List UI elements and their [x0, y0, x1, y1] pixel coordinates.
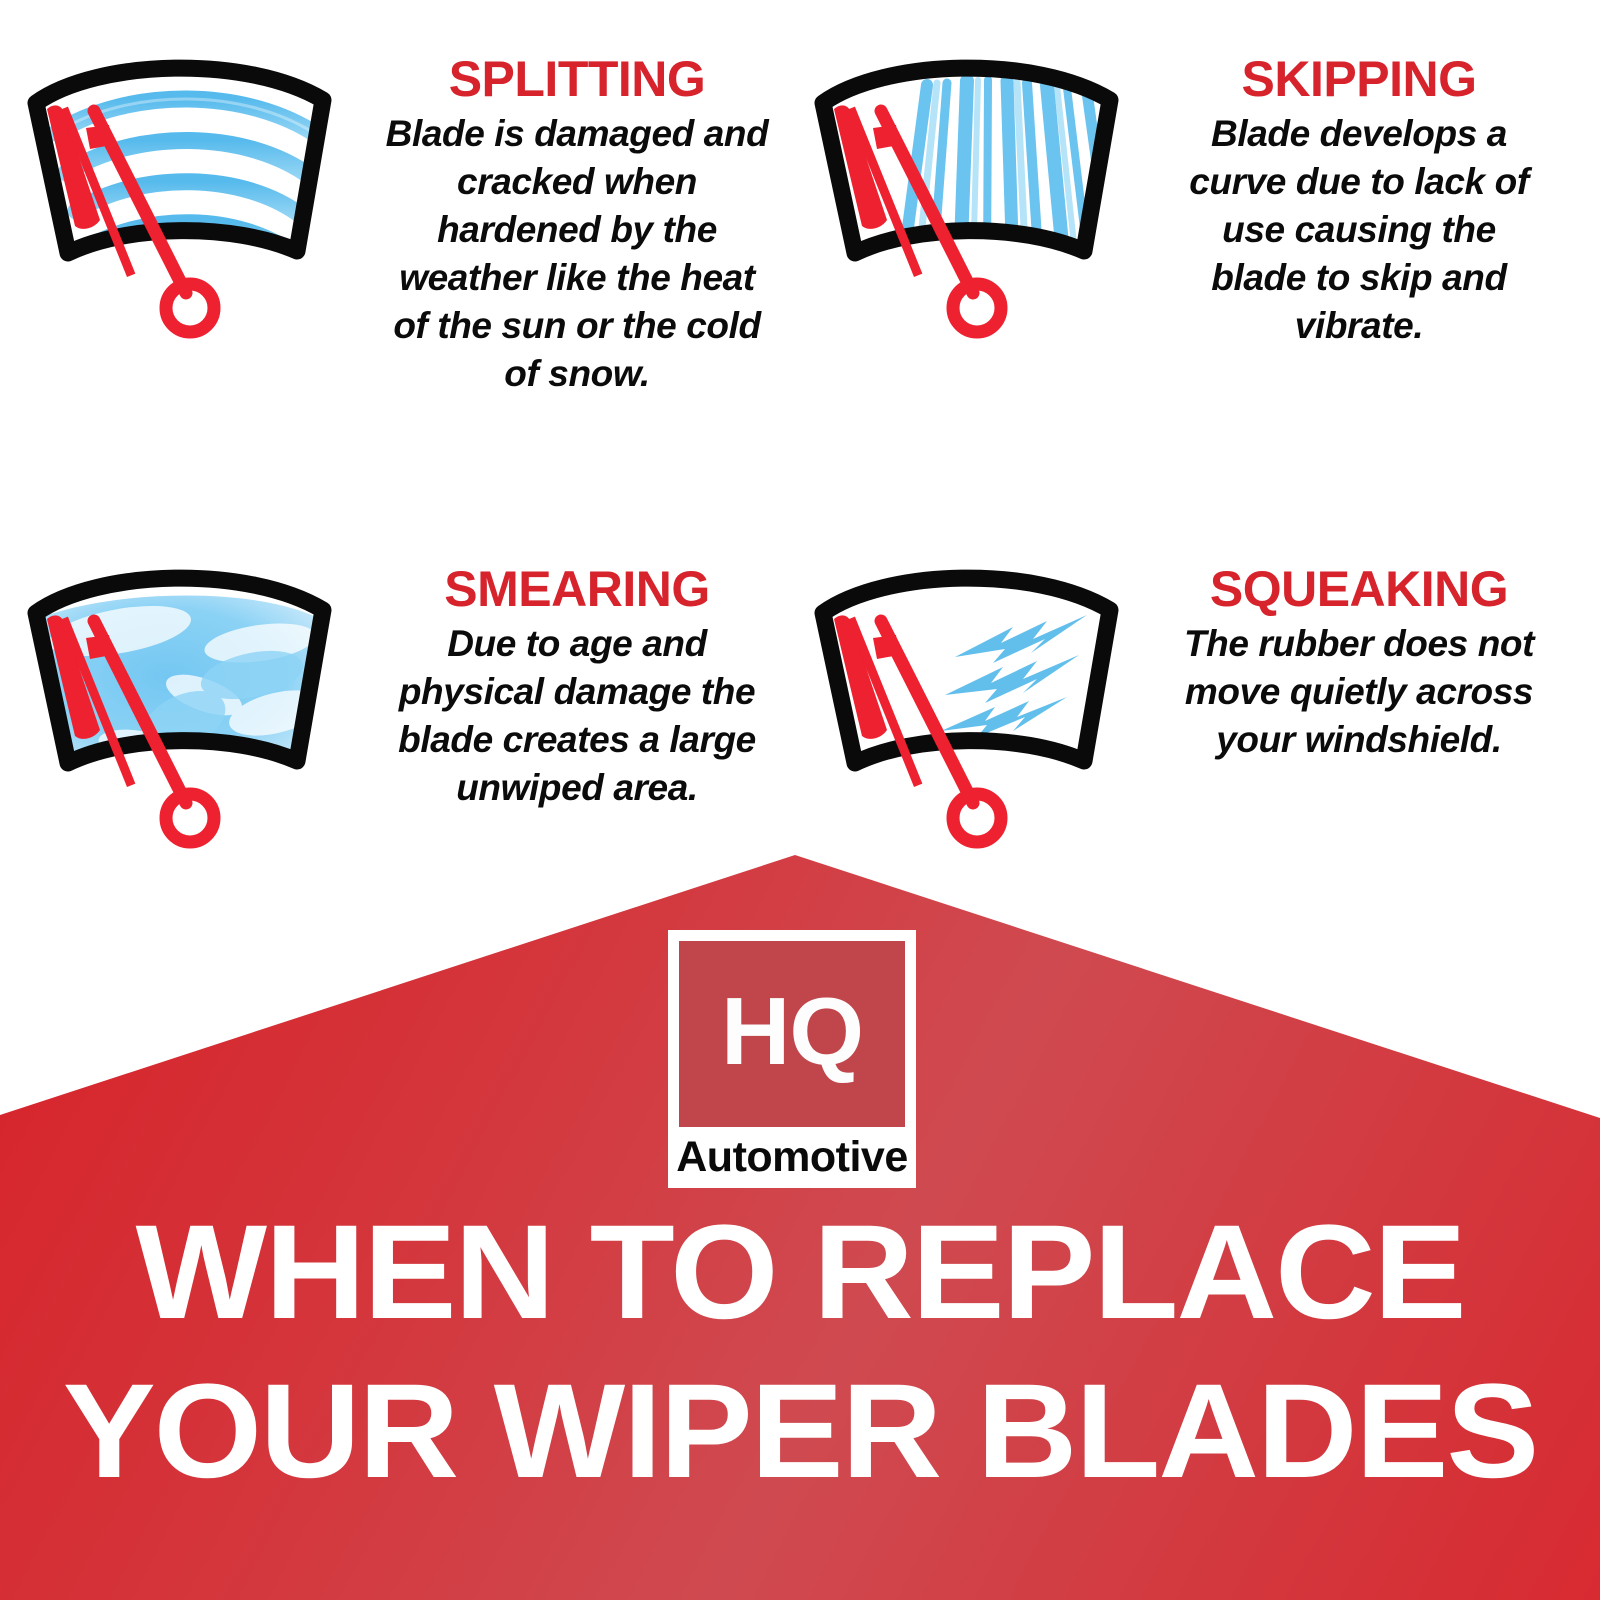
logo-mark: HQ	[679, 941, 905, 1127]
card-title: SQUEAKING	[1171, 563, 1547, 616]
headline: WHEN TO REPLACE YOUR WIPER BLADES	[0, 1205, 1600, 1500]
logo-mark-text: HQ	[721, 984, 863, 1084]
card-text-block: SQUEAKING The rubber does not move quiet…	[1165, 535, 1575, 764]
symptom-card-smearing: SMEARING Due to age and physical damage …	[8, 535, 788, 935]
hq-automotive-logo: HQ Automotive	[668, 930, 916, 1188]
symptom-card-grid: SPLITTING Blade is damaged and cracked w…	[0, 0, 1600, 880]
symptom-card-skipping: SKIPPING Blade develops a curve due to l…	[795, 25, 1575, 425]
logo-wordmark: Automotive	[679, 1127, 905, 1187]
card-text-block: SMEARING Due to age and physical damage …	[378, 535, 788, 812]
card-description: Blade is damaged and cracked when harden…	[384, 110, 770, 399]
card-text-block: SKIPPING Blade develops a curve due to l…	[1165, 25, 1575, 350]
windshield-wiper-splitting-icon	[8, 25, 378, 355]
card-description: Due to age and physical damage the blade…	[384, 620, 770, 812]
windshield-wiper-squeaking-icon	[795, 535, 1165, 865]
card-title: SPLITTING	[384, 53, 770, 106]
symptom-card-squeaking: SQUEAKING The rubber does not move quiet…	[795, 535, 1575, 935]
card-title: SKIPPING	[1171, 53, 1547, 106]
logo-wordmark-text: Automotive	[676, 1136, 908, 1179]
card-description: Blade develops a curve due to lack of us…	[1171, 110, 1547, 350]
symptom-card-splitting: SPLITTING Blade is damaged and cracked w…	[8, 25, 788, 425]
headline-line-2: YOUR WIPER BLADES	[0, 1364, 1600, 1501]
windshield-wiper-smearing-icon	[8, 535, 378, 865]
card-description: The rubber does not move quietly across …	[1171, 620, 1547, 764]
card-title: SMEARING	[384, 563, 770, 616]
windshield-wiper-skipping-icon	[795, 25, 1165, 355]
card-text-block: SPLITTING Blade is damaged and cracked w…	[378, 25, 788, 399]
headline-line-1: WHEN TO REPLACE	[0, 1205, 1600, 1342]
